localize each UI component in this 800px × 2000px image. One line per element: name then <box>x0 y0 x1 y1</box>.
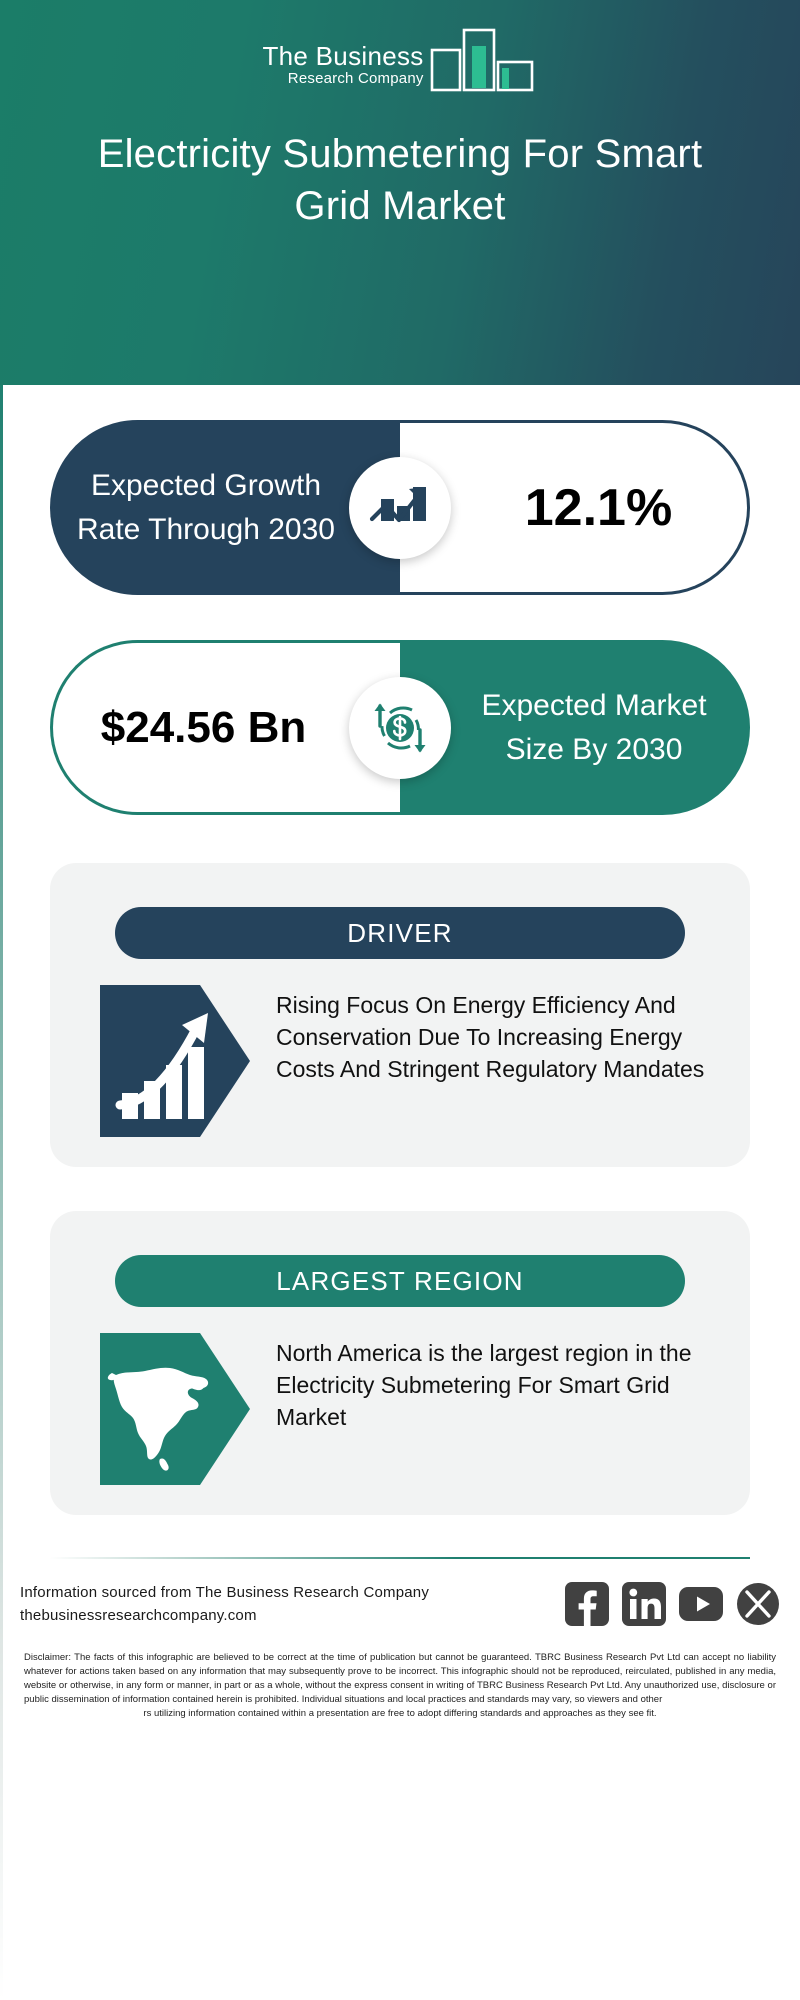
largest-region-panel: LARGEST REGION North America is the larg… <box>50 1211 750 1515</box>
driver-panel: DRIVER Rising Focus On Energy Efficiency… <box>50 863 750 1167</box>
footer-divider <box>50 1557 750 1559</box>
driver-text: Rising Focus On Energy Efficiency And Co… <box>276 985 710 1085</box>
stat-card-growth-rate: Expected Growth Rate Through 2030 12.1% <box>50 420 750 595</box>
bar-chart-logo-mark <box>428 24 538 92</box>
left-accent-rail <box>0 385 3 2000</box>
market-size-value: $24.56 Bn <box>101 702 352 754</box>
stat-card-market-size: $24.56 Bn Expected Market Size By 2030 <box>50 640 750 815</box>
header-banner: The Business Research Company Electricit… <box>0 0 800 385</box>
footer-website-link[interactable]: thebusinessresearchcompany.com <box>20 1604 429 1627</box>
market-size-label: Expected Market Size By 2030 <box>400 684 750 772</box>
growth-bars-arrow-hex-icon <box>100 985 250 1137</box>
linkedin-icon[interactable] <box>622 1582 666 1626</box>
disclaimer-last-line: rs utilizing information contained withi… <box>24 1707 776 1721</box>
logo-text-block: The Business Research Company <box>262 42 423 92</box>
facebook-icon[interactable] <box>565 1582 609 1626</box>
largest-region-body-row: North America is the largest region in t… <box>50 1307 750 1485</box>
footer-source-block: Information sourced from The Business Re… <box>20 1581 429 1627</box>
page-title: Electricity Submetering For Smart Grid M… <box>80 128 720 232</box>
largest-region-text: North America is the largest region in t… <box>276 1333 710 1433</box>
north-america-map-hex-icon <box>100 1333 250 1485</box>
logo-line-2: Research Company <box>262 70 423 88</box>
growth-label-panel: Expected Growth Rate Through 2030 <box>50 420 400 595</box>
market-size-label-panel: Expected Market Size By 2030 <box>400 640 750 815</box>
growth-chart-arrow-icon <box>349 457 451 559</box>
disclaimer-text: Disclaimer: The facts of this infographi… <box>24 1651 776 1721</box>
driver-heading: DRIVER <box>115 907 685 959</box>
largest-region-heading: LARGEST REGION <box>115 1255 685 1307</box>
growth-label: Expected Growth Rate Through 2030 <box>50 464 400 552</box>
driver-body-row: Rising Focus On Energy Efficiency And Co… <box>50 959 750 1137</box>
x-twitter-icon[interactable] <box>736 1582 780 1626</box>
dollar-cycle-icon <box>349 677 451 779</box>
footer-source-line-1: Information sourced from The Business Re… <box>20 1581 429 1604</box>
company-logo: The Business Research Company <box>262 22 537 92</box>
growth-value-panel: 12.1% <box>400 420 750 595</box>
market-size-value-panel: $24.56 Bn <box>50 640 400 815</box>
disclaimer-main: Disclaimer: The facts of this infographi… <box>24 1652 776 1705</box>
logo-line-1: The Business <box>262 42 423 70</box>
youtube-icon[interactable] <box>679 1582 723 1626</box>
social-links <box>565 1582 780 1626</box>
growth-value: 12.1% <box>475 479 672 537</box>
footer-row: Information sourced from The Business Re… <box>20 1581 780 1627</box>
